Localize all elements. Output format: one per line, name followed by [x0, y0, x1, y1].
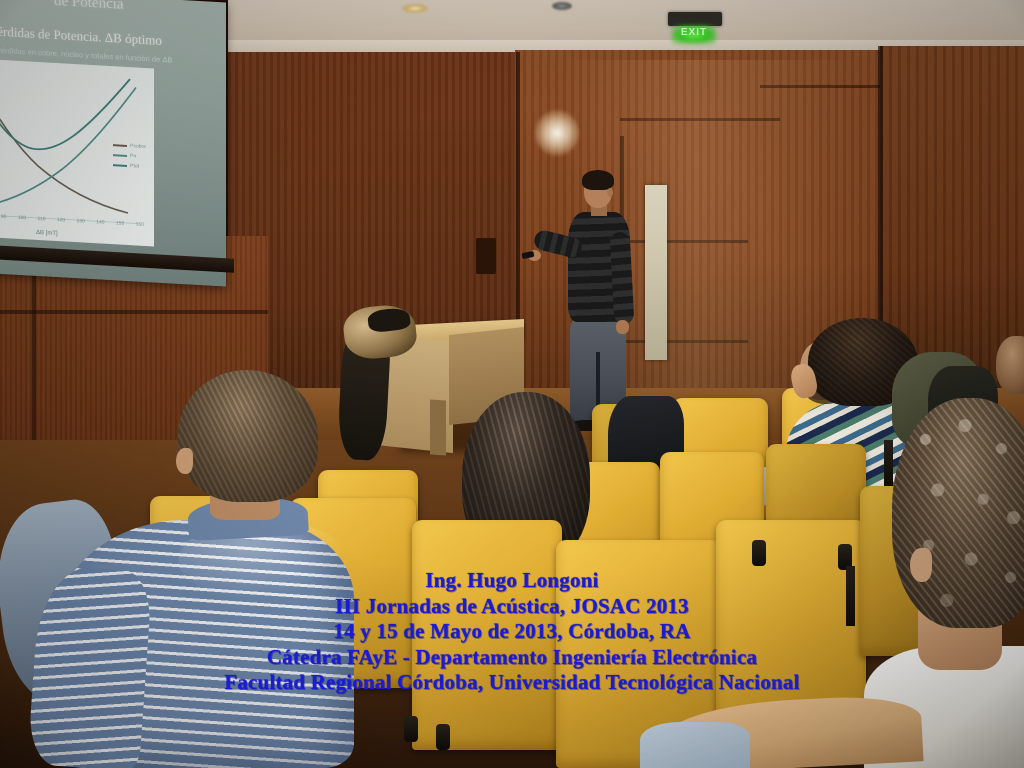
caption-line-department: Cátedra FAyE - Departamento Ingeniería E… — [0, 645, 1024, 671]
lectern-leg — [430, 399, 446, 455]
wall-panel-line — [620, 118, 780, 121]
chart-tick: 90 — [1, 214, 7, 220]
legend-swatch — [113, 164, 127, 166]
slide-title: Pérdidas de Potencia. ΔB óptimo — [0, 23, 162, 49]
legend-label: Pn — [130, 151, 136, 161]
chart-tick: 120 — [57, 217, 65, 223]
legend-label: Ptot — [130, 161, 139, 171]
caption-line-university: Facultad Regional Córdoba, Universidad T… — [0, 670, 1024, 696]
caption-line-date-location: 14 y 15 de Mayo de 2013, Córdoba, RA — [0, 619, 1024, 645]
presenter-right-arm — [610, 232, 635, 325]
foreground-hair-texture — [178, 370, 318, 502]
wall-panel-line — [760, 85, 880, 88]
legend-swatch — [113, 144, 127, 146]
chart-tick: 160 — [136, 221, 144, 227]
wall-speaker-box — [476, 238, 496, 274]
photo-caption: Ing. Hugo Longoni III Jornadas de Acústi… — [0, 568, 1024, 696]
chart-tick: 140 — [96, 219, 104, 225]
presenter-hair — [582, 170, 614, 190]
chart-tick: 130 — [77, 218, 85, 224]
presenter-ear — [607, 188, 613, 197]
chart-x-label: ΔB [mT] — [36, 230, 58, 237]
seat-hinge — [404, 716, 418, 742]
slide-chart: 80 90 100 110 120 130 140 150 160 ΔB [mT… — [0, 59, 154, 247]
wall-light-reflection — [535, 110, 579, 156]
audience-head — [996, 336, 1024, 394]
seat-hinge — [436, 724, 450, 750]
chart-legend: Pcobre Pn Ptot — [113, 140, 146, 172]
chart-line-pcobre — [0, 64, 128, 213]
foreground-ear — [176, 448, 193, 474]
audience-member-far-right — [996, 336, 1024, 396]
chart-tick: 150 — [116, 220, 124, 226]
chart-tick: 110 — [38, 216, 46, 222]
presenter-right-hand — [616, 320, 629, 334]
seat-hinge — [752, 540, 766, 566]
exit-sign-housing — [668, 12, 722, 26]
ceiling-light-icon — [402, 4, 428, 13]
chart-line-ptot — [0, 59, 130, 155]
foreground-sleeve-bottom-right — [640, 722, 750, 768]
caption-line-event: III Jornadas de Acústica, JOSAC 2013 — [0, 594, 1024, 620]
projection-screen: de Potencia Pérdidas de Potencia. ΔB ópt… — [0, 0, 226, 286]
slide-title-upper: de Potencia — [54, 0, 124, 14]
conference-photo: EXIT de Potencia Pérdidas de Potencia. Δ… — [0, 0, 1024, 768]
legend-entry: Ptot — [113, 160, 146, 172]
exit-sign-label: EXIT — [672, 27, 716, 38]
chart-tick: 100 — [18, 215, 26, 221]
wall-panel-line — [0, 310, 268, 314]
caption-line-presenter: Ing. Hugo Longoni — [0, 568, 1024, 594]
legend-swatch — [113, 154, 127, 156]
ceiling-speaker-icon — [552, 2, 572, 10]
